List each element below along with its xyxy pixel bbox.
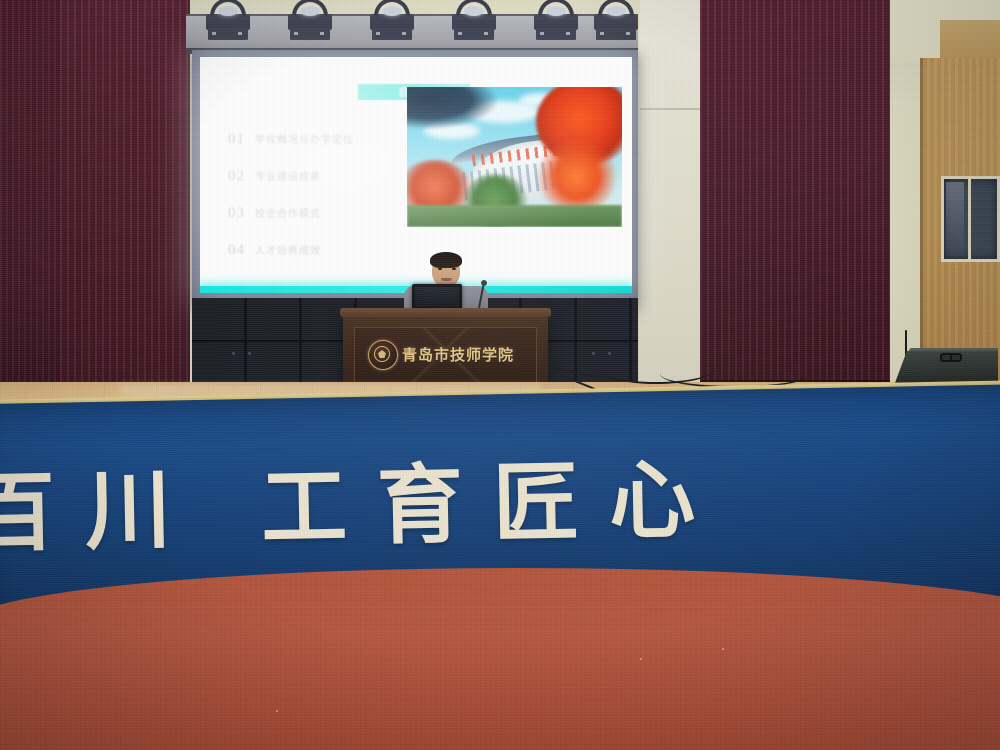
window-mullion xyxy=(968,179,971,259)
mid-wall-trim xyxy=(640,108,702,110)
photo-ground xyxy=(407,205,622,227)
slide-campus-photo xyxy=(407,87,622,227)
carpet-texture xyxy=(0,568,1000,750)
stage-curtain-right xyxy=(700,0,890,392)
speaker-mouth xyxy=(441,278,452,281)
agenda-item: 04 人才培养成效 xyxy=(228,242,418,259)
carpet-speck xyxy=(640,658,642,660)
wood-panel-upper xyxy=(940,20,1000,60)
agenda-number: 04 xyxy=(228,242,245,259)
photo-foreground-branch xyxy=(407,87,497,129)
window-glare xyxy=(946,182,964,256)
microphone-head xyxy=(481,280,487,286)
speaker-hair xyxy=(430,252,462,268)
carpet-speck xyxy=(722,648,724,650)
agenda-label: 校企合作模式 xyxy=(255,205,321,220)
agenda-label: 学校概况与办学定位 xyxy=(255,131,354,146)
podium-institution-label: 青岛市技师学院 xyxy=(402,342,532,366)
led-cabinet-latch xyxy=(248,352,251,355)
led-cabinet-latch xyxy=(232,352,235,355)
agenda-label: 人才培养成效 xyxy=(255,242,321,257)
mid-wall-pillar xyxy=(640,0,702,398)
led-cabinet-latch xyxy=(608,352,611,355)
podium-desktop xyxy=(340,308,551,317)
agenda-label: 专业建设成果 xyxy=(255,168,321,183)
monitor-handle-divider xyxy=(950,353,952,362)
agenda-number: 02 xyxy=(228,168,245,185)
laptop-screen xyxy=(415,287,459,307)
speaker-eye xyxy=(438,268,442,270)
speaker-eye xyxy=(452,268,456,270)
agenda-item: 03 校企合作模式 xyxy=(228,205,418,222)
stage-curtain-left xyxy=(60,0,190,392)
agenda-item: 02 专业建设成果 xyxy=(228,168,418,185)
slide-agenda-list: 01 学校概况与办学定位 02 专业建设成果 03 校企合作模式 04 人才培养… xyxy=(228,131,418,279)
auditorium-photo: 目 录 01 学校概况与办学定位 02 专业建设成果 03 校企合作模式 04 … xyxy=(0,0,1000,750)
agenda-number: 01 xyxy=(228,131,245,148)
agenda-number: 03 xyxy=(228,205,245,222)
agenda-item: 01 学校概况与办学定位 xyxy=(228,131,418,148)
presentation-slide: 目 录 01 学校概况与办学定位 02 专业建设成果 03 校企合作模式 04 … xyxy=(200,57,632,293)
led-cabinet-latch xyxy=(592,352,595,355)
photo-autumn-tree xyxy=(536,140,618,213)
carpet-speck xyxy=(276,710,278,712)
